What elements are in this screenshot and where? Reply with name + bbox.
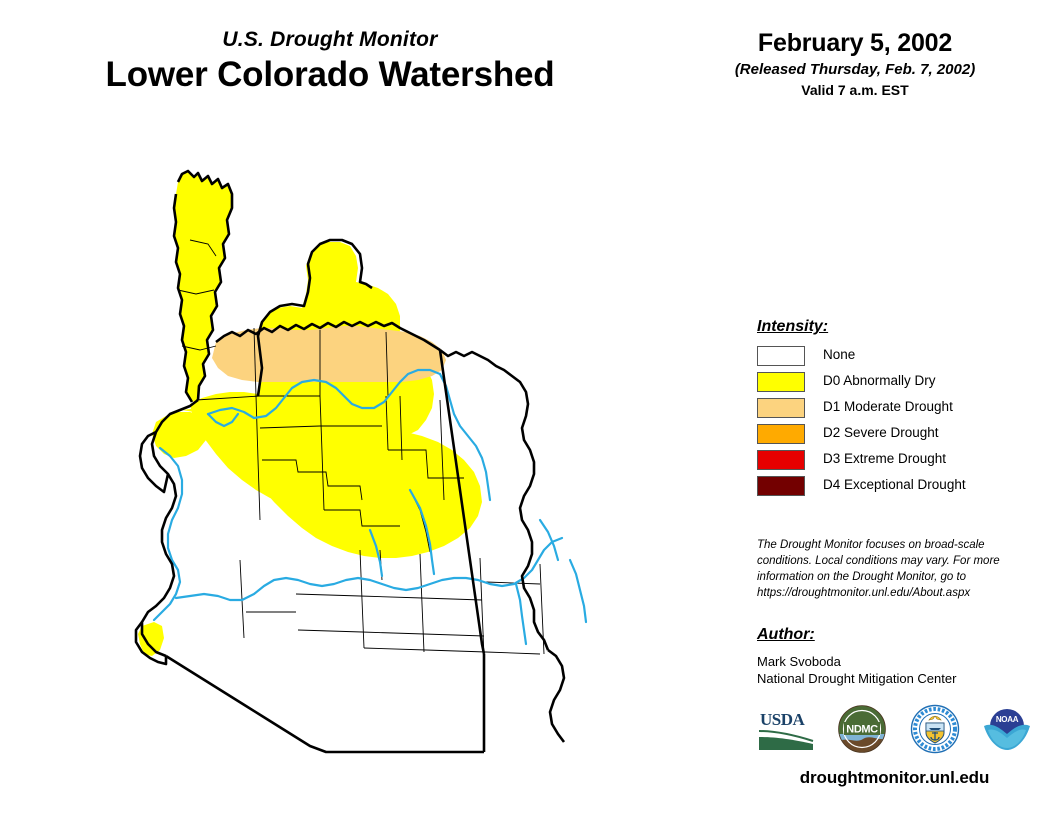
author-title: Author:	[757, 626, 1032, 644]
logo-row: USDA NDMC	[757, 702, 1032, 760]
legend-swatch-d2	[757, 424, 805, 444]
disclaimer-text: The Drought Monitor focuses on broad-sca…	[757, 538, 1025, 601]
ndmc-logo-hills	[837, 737, 887, 754]
map-layers	[134, 170, 586, 752]
author-name: Mark Svoboda	[757, 653, 1032, 671]
legend-label-d1: D1 Moderate Drought	[823, 400, 953, 415]
date-block: February 5, 2002 (Released Thursday, Feb…	[690, 30, 1020, 98]
footer-website-url[interactable]: droughtmonitor.unl.edu	[757, 768, 1032, 788]
drought-map[interactable]	[120, 160, 680, 800]
noaa-swoosh-logo[interactable]: NOAA	[982, 704, 1032, 759]
legend-item-d1[interactable]: D1 Moderate Drought	[757, 397, 1032, 419]
legend-label-none: None	[823, 348, 855, 363]
disclaimer-url[interactable]: https://droughtmonitor.unl.edu/About.asp…	[757, 586, 1025, 602]
ndmc-logo[interactable]: NDMC	[837, 704, 887, 759]
legend-item-d2[interactable]: D2 Severe Drought	[757, 423, 1032, 445]
valid-time: Valid 7 a.m. EST	[690, 82, 1020, 98]
legend-item-d0[interactable]: D0 Abnormally Dry	[757, 371, 1032, 393]
usda-logo-text: USDA	[760, 710, 806, 729]
legend-label-d2: D2 Severe Drought	[823, 426, 939, 441]
usda-logo[interactable]: USDA	[757, 708, 815, 755]
page-title: Lower Colorado Watershed	[0, 55, 660, 94]
map-date: February 5, 2002	[690, 30, 1020, 58]
noaa-seal-ship	[929, 728, 941, 730]
noaa-swoosh-text: NOAA	[996, 715, 1019, 724]
legend-swatch-d3	[757, 450, 805, 470]
disclaimer-line-3: information on the Drought Monitor, go t…	[757, 570, 1025, 586]
legend-swatch-d1	[757, 398, 805, 418]
disclaimer-line-2: conditions. Local conditions may vary. F…	[757, 554, 1025, 570]
author-affiliation: National Drought Mitigation Center	[757, 670, 1032, 688]
legend-label-d0: D0 Abnormally Dry	[823, 374, 936, 389]
ndmc-logo-text: NDMC	[847, 723, 879, 735]
noaa-seal-logo[interactable]	[910, 704, 960, 759]
legend: Intensity: None D0 Abnormally Dry D1 Mod…	[757, 318, 1032, 501]
legend-swatch-d0	[757, 372, 805, 392]
release-date: (Released Thursday, Feb. 7, 2002)	[690, 61, 1020, 78]
legend-label-d4: D4 Exceptional Drought	[823, 478, 966, 493]
legend-item-none[interactable]: None	[757, 345, 1032, 367]
legend-swatch-d4	[757, 476, 805, 496]
disclaimer-line-1: The Drought Monitor focuses on broad-sca…	[757, 538, 1025, 554]
author-block: Author: Mark Svoboda National Drought Mi…	[757, 626, 1032, 688]
legend-label-d3: D3 Extreme Drought	[823, 452, 946, 467]
title-block: U.S. Drought Monitor Lower Colorado Wate…	[0, 28, 660, 94]
page-supertitle: U.S. Drought Monitor	[0, 28, 660, 51]
legend-item-d4[interactable]: D4 Exceptional Drought	[757, 475, 1032, 497]
legend-swatch-none	[757, 346, 805, 366]
legend-item-d3[interactable]: D3 Extreme Drought	[757, 449, 1032, 471]
legend-title: Intensity:	[757, 318, 1032, 336]
